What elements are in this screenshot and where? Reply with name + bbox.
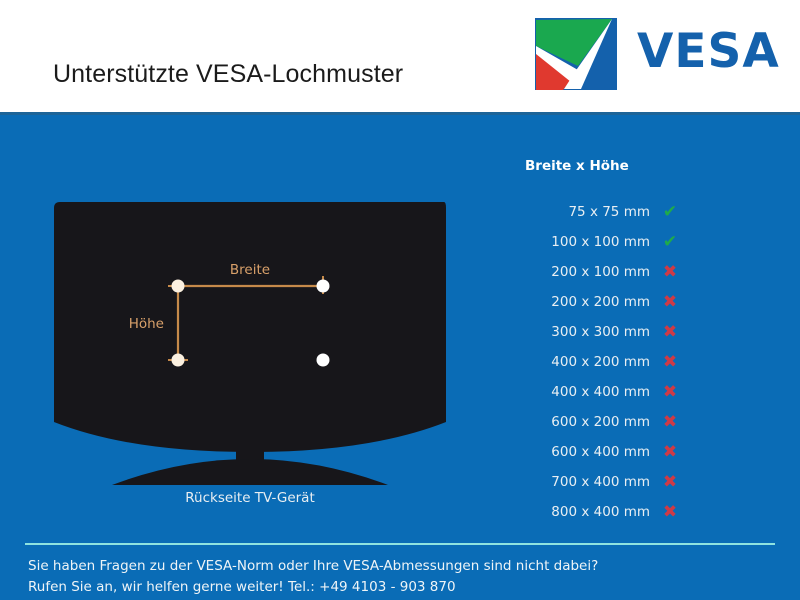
vesa-size-label: 100 x 100 mm xyxy=(522,234,650,250)
vesa-info-graphic: Unterstützte VESA-Lochmuster VESA xyxy=(0,0,800,600)
supported-check-icon: ✔ xyxy=(650,234,690,251)
unsupported-cross-icon: ✖ xyxy=(650,294,690,311)
unsupported-cross-icon: ✖ xyxy=(650,504,690,521)
vesa-size-label: 400 x 400 mm xyxy=(522,384,650,400)
svg-text:Höhe: Höhe xyxy=(129,316,164,332)
footer-contact-text: Sie haben Fragen zu der VESA-Norm oder I… xyxy=(28,556,768,598)
header-band: Unterstützte VESA-Lochmuster VESA xyxy=(0,0,800,112)
table-column-header: Breite x Höhe xyxy=(505,158,690,174)
vesa-logo: VESA xyxy=(533,16,785,94)
unsupported-cross-icon: ✖ xyxy=(650,444,690,461)
unsupported-cross-icon: ✖ xyxy=(650,384,690,401)
vesa-wordmark: VESA xyxy=(637,28,780,75)
table-row: 75 x 75 mm✔ xyxy=(505,197,690,227)
tv-illustration-icon: Breite Höhe xyxy=(40,190,460,490)
table-body: 75 x 75 mm✔100 x 100 mm✔200 x 100 mm✖200… xyxy=(505,197,690,527)
page-title: Unterstützte VESA-Lochmuster xyxy=(53,60,403,89)
footer-line-2: Rufen Sie an, wir helfen gerne weiter! T… xyxy=(28,577,768,598)
table-row: 400 x 200 mm✖ xyxy=(505,347,690,377)
svg-text:Breite: Breite xyxy=(230,262,270,278)
tv-back-diagram: Breite Höhe Rückseite TV-Gerät xyxy=(40,190,460,510)
vesa-size-label: 400 x 200 mm xyxy=(522,354,650,370)
table-row: 300 x 300 mm✖ xyxy=(505,317,690,347)
table-row: 100 x 100 mm✔ xyxy=(505,227,690,257)
vesa-size-label: 200 x 100 mm xyxy=(522,264,650,280)
table-row: 600 x 400 mm✖ xyxy=(505,437,690,467)
vesa-size-label: 600 x 400 mm xyxy=(522,444,650,460)
vesa-support-table: Breite x Höhe 75 x 75 mm✔100 x 100 mm✔20… xyxy=(505,158,690,527)
supported-check-icon: ✔ xyxy=(650,204,690,221)
vesa-check-logo-icon xyxy=(533,16,619,92)
unsupported-cross-icon: ✖ xyxy=(650,474,690,491)
vesa-size-label: 75 x 75 mm xyxy=(522,204,650,220)
unsupported-cross-icon: ✖ xyxy=(650,324,690,341)
tv-caption: Rückseite TV-Gerät xyxy=(40,490,460,506)
band-top-edge xyxy=(0,112,800,115)
unsupported-cross-icon: ✖ xyxy=(650,414,690,431)
table-row: 800 x 400 mm✖ xyxy=(505,497,690,527)
table-row: 200 x 200 mm✖ xyxy=(505,287,690,317)
table-row: 700 x 400 mm✖ xyxy=(505,467,690,497)
table-row: 200 x 100 mm✖ xyxy=(505,257,690,287)
vesa-size-label: 300 x 300 mm xyxy=(522,324,650,340)
vesa-size-label: 700 x 400 mm xyxy=(522,474,650,490)
table-row: 600 x 200 mm✖ xyxy=(505,407,690,437)
unsupported-cross-icon: ✖ xyxy=(650,264,690,281)
vesa-size-label: 600 x 200 mm xyxy=(522,414,650,430)
unsupported-cross-icon: ✖ xyxy=(650,354,690,371)
table-row: 400 x 400 mm✖ xyxy=(505,377,690,407)
footer-line-1: Sie haben Fragen zu der VESA-Norm oder I… xyxy=(28,556,768,577)
vesa-size-label: 800 x 400 mm xyxy=(522,504,650,520)
vesa-size-label: 200 x 200 mm xyxy=(522,294,650,310)
footer-divider xyxy=(25,543,775,545)
